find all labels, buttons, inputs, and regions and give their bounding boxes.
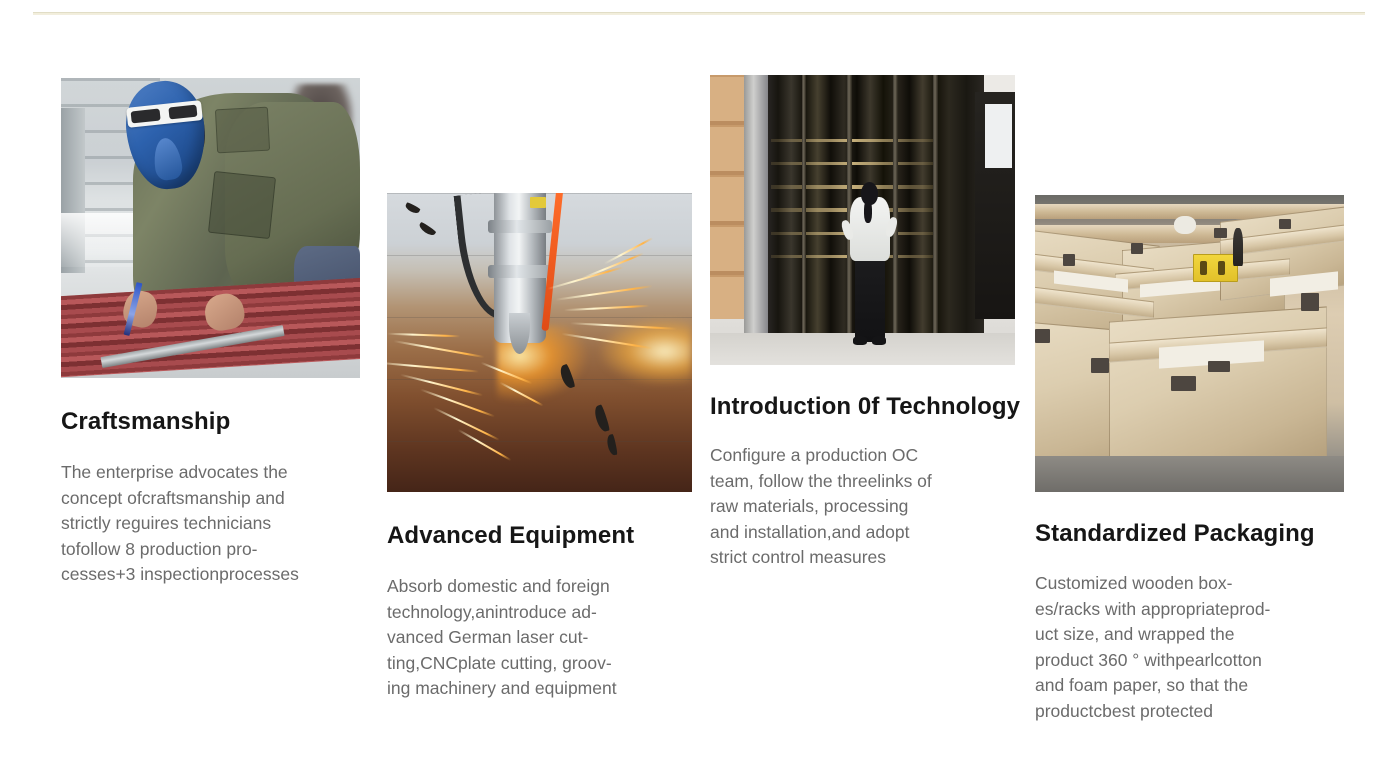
showroom-doors-photo [710,75,1015,365]
feature-body-text: Customized wooden box- es/racks with app… [1035,571,1347,724]
feature-column-introduction-of-technology: Introduction 0f Technology Configure a p… [710,75,1030,571]
worker-marking-metal-photo [61,78,360,378]
laser-cutting-sparks-photo [387,193,692,492]
feature-heading: Introduction 0f Technology [710,393,1030,421]
feature-column-craftsmanship: Craftsmanship The enterprise advocates t… [61,78,381,588]
feature-heading: Craftsmanship [61,408,381,436]
feature-body-text: The enterprise advocates the concept ofc… [61,460,361,588]
feature-heading: Standardized Packaging [1035,520,1355,548]
feature-body-text: Absorb domestic and foreign technology,a… [387,574,687,702]
feature-body-text: Configure a production OC team, follow t… [710,443,1010,571]
wooden-crates-packaging-photo [1035,195,1344,492]
feature-column-standardized-packaging: Standardized Packaging Customized wooden… [1035,195,1355,724]
feature-column-advanced-equipment: Advanced Equipment Absorb domestic and f… [387,193,697,702]
top-divider-rule [33,12,1365,15]
feature-heading: Advanced Equipment [387,522,697,550]
slide-root: Craftsmanship The enterprise advocates t… [0,0,1394,759]
